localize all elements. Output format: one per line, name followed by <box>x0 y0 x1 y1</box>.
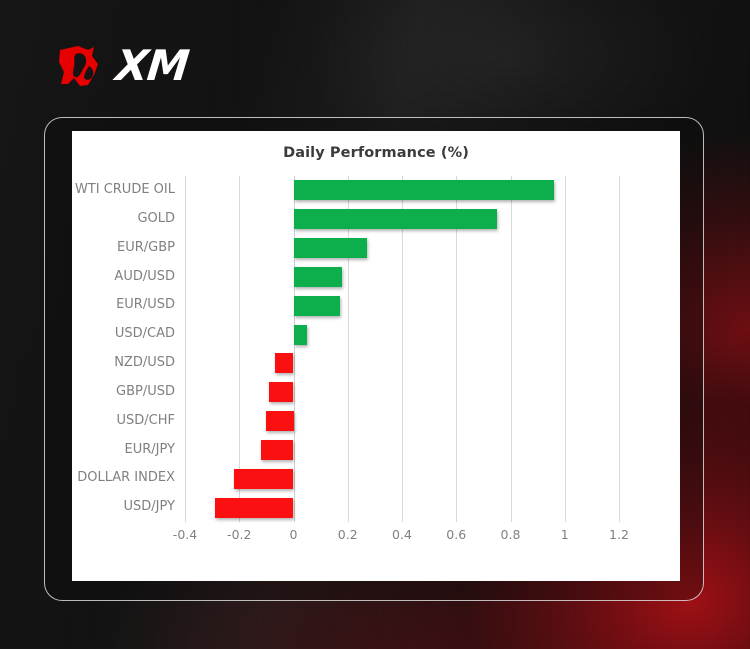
bar-usd-chf <box>266 411 293 431</box>
x-axis-tick-label: 0.8 <box>501 527 521 542</box>
y-axis-tick-label: WTI CRUDE OIL <box>75 176 175 205</box>
y-axis-tick-label: DOLLAR INDEX <box>77 464 175 493</box>
bar-row <box>185 234 619 263</box>
chart-card: Daily Performance (%) WTI CRUDE OILGOLDE… <box>72 131 680 581</box>
x-axis-tick-label: 0 <box>290 527 298 542</box>
bar-row <box>185 464 619 493</box>
chart-title: Daily Performance (%) <box>72 145 680 161</box>
bar-aud-usd <box>294 267 343 287</box>
bar-nzd-usd <box>275 353 294 373</box>
y-axis-tick-label: EUR/USD <box>116 291 175 320</box>
bar-row <box>185 176 619 205</box>
bar-eur-gbp <box>294 238 367 258</box>
y-axis-tick-label: GBP/USD <box>116 378 175 407</box>
x-axis-tick-label: -0.4 <box>173 527 197 542</box>
bar-row <box>185 378 619 407</box>
gridline <box>619 176 620 522</box>
x-axis-tick-label: 1.2 <box>609 527 629 542</box>
y-axis-tick-label: AUD/USD <box>114 263 175 292</box>
bar-gbp-usd <box>269 382 293 402</box>
y-axis-tick-label: EUR/GBP <box>117 234 175 263</box>
y-axis-tick-label: USD/JPY <box>124 493 176 522</box>
bar-dollar-index <box>234 469 294 489</box>
bar-eur-usd <box>294 296 340 316</box>
y-axis-tick-label: EUR/JPY <box>125 436 175 465</box>
bar-row <box>185 407 619 436</box>
x-axis-tick-label: 0.6 <box>446 527 466 542</box>
y-axis-tick-label: GOLD <box>137 205 175 234</box>
bar-row <box>185 263 619 292</box>
x-axis-tick-label: 1 <box>561 527 569 542</box>
xm-logo: XM <box>58 44 188 88</box>
x-axis-tick-label: -0.2 <box>227 527 251 542</box>
plot-area <box>185 176 619 522</box>
bar-row <box>185 349 619 378</box>
y-axis-tick-label: USD/CAD <box>115 320 175 349</box>
bar-usd-cad <box>294 325 308 345</box>
y-axis-tick-label: USD/CHF <box>117 407 176 436</box>
bar-series <box>185 176 619 522</box>
bar-row <box>185 493 619 522</box>
x-axis-labels: -0.4-0.200.20.40.60.811.2 <box>185 527 619 549</box>
bar-row <box>185 291 619 320</box>
x-axis-tick-label: 0.2 <box>338 527 358 542</box>
bar-row <box>185 205 619 234</box>
y-axis-labels: WTI CRUDE OILGOLDEUR/GBPAUD/USDEUR/USDUS… <box>72 176 180 522</box>
bar-wti-crude-oil <box>294 180 554 200</box>
xm-wordmark: XM <box>114 45 191 87</box>
x-axis-tick-label: 0.4 <box>392 527 412 542</box>
xm-bull-logo-icon <box>58 44 114 88</box>
y-axis-tick-label: NZD/USD <box>114 349 175 378</box>
bar-usd-jpy <box>215 498 294 518</box>
bar-row <box>185 320 619 349</box>
bar-gold <box>294 209 497 229</box>
bar-eur-jpy <box>261 440 294 460</box>
screenshot-canvas: XM Daily Performance (%) WTI CRUDE OILGO… <box>0 0 750 649</box>
bar-row <box>185 436 619 465</box>
